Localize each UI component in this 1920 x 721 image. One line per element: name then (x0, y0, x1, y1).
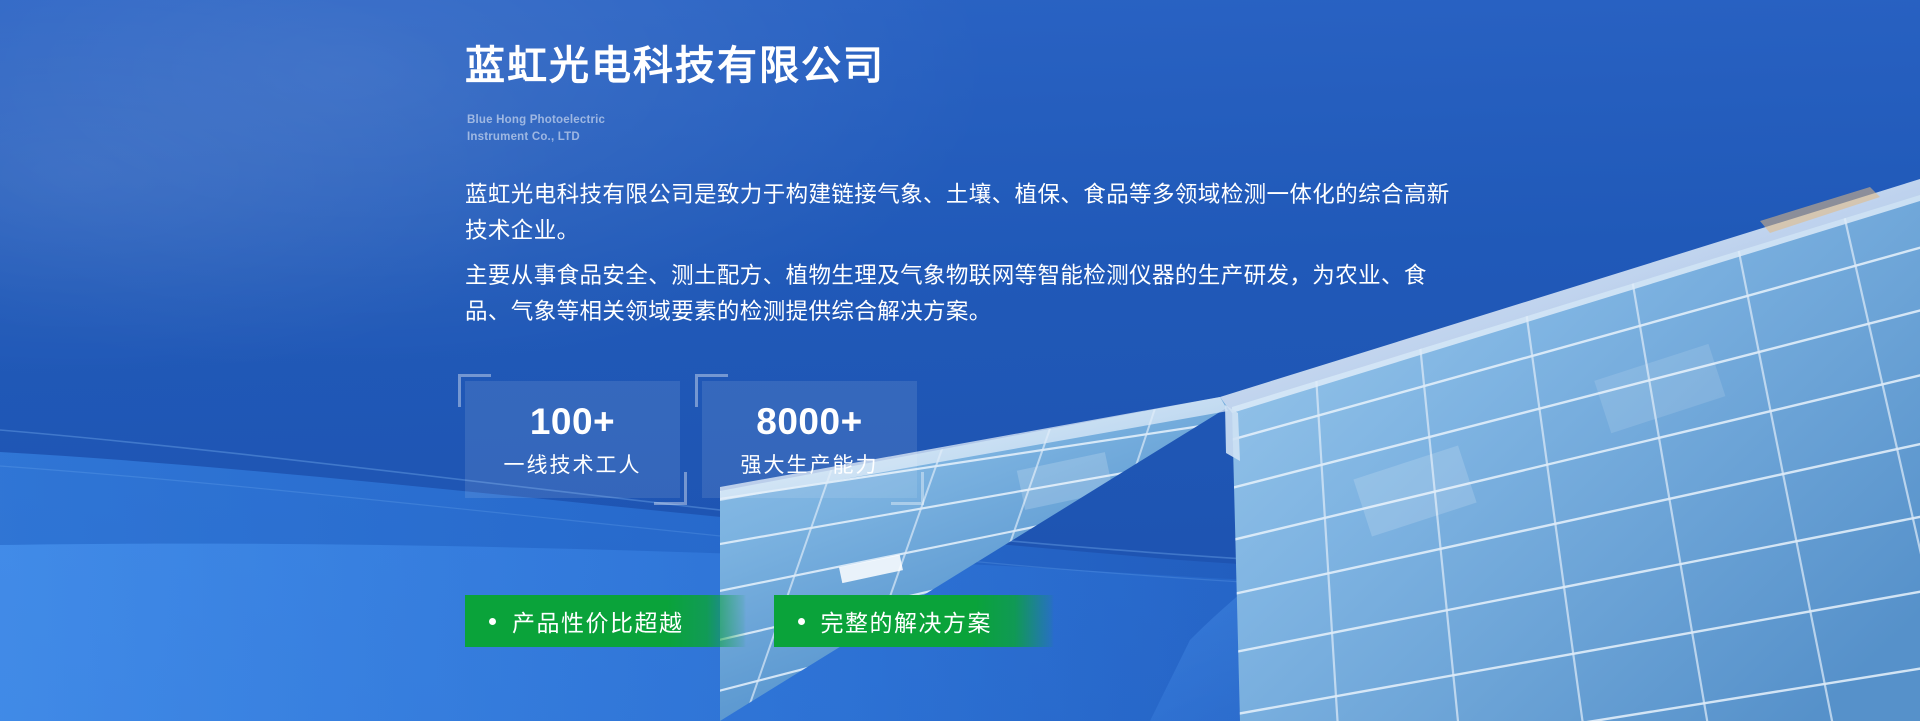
brand-subtitle-en: Blue Hong Photoelectric Instrument Co., … (467, 112, 605, 146)
stat-label: 强大生产能力 (741, 453, 879, 479)
bullet-dot-icon (798, 618, 805, 625)
intro-paragraph-1: 蓝虹光电科技有限公司是致力于构建链接气象、土壤、植保、食品等多领域检测一体化的综… (465, 177, 1450, 249)
page-title: 蓝虹光电科技有限公司 (465, 42, 885, 90)
feature-tag-label: 产品性价比超越 (512, 604, 684, 638)
feature-tag-label: 完整的解决方案 (821, 604, 993, 638)
feature-tag-value: 产品性价比超越 (465, 595, 746, 647)
intro-paragraph-2: 主要从事食品安全、测土配方、植物生理及气象物联网等智能检测仪器的生产研发，为农业… (465, 258, 1450, 330)
stat-card-capacity: 8000+ 强大生产能力 (702, 381, 917, 498)
bullet-dot-icon (489, 618, 496, 625)
feature-tag-solution: 完整的解决方案 (774, 595, 1055, 647)
feature-tag-group: 产品性价比超越 完整的解决方案 (465, 595, 1054, 647)
stat-value: 8000+ (756, 400, 862, 444)
stat-card-workers: 100+ 一线技术工人 (465, 381, 680, 498)
company-hero-banner: 蓝虹光电科技有限公司 Blue Hong Photoelectric Instr… (0, 0, 1920, 721)
stat-value: 100+ (530, 400, 615, 444)
stat-label: 一线技术工人 (504, 453, 642, 479)
banner-content: 蓝虹光电科技有限公司 Blue Hong Photoelectric Instr… (465, 0, 1765, 721)
brand-subtitle-line-2: Instrument Co., LTD (467, 129, 605, 146)
statistics-group: 100+ 一线技术工人 8000+ 强大生产能力 (465, 381, 917, 498)
brand-subtitle-line-1: Blue Hong Photoelectric (467, 112, 605, 129)
